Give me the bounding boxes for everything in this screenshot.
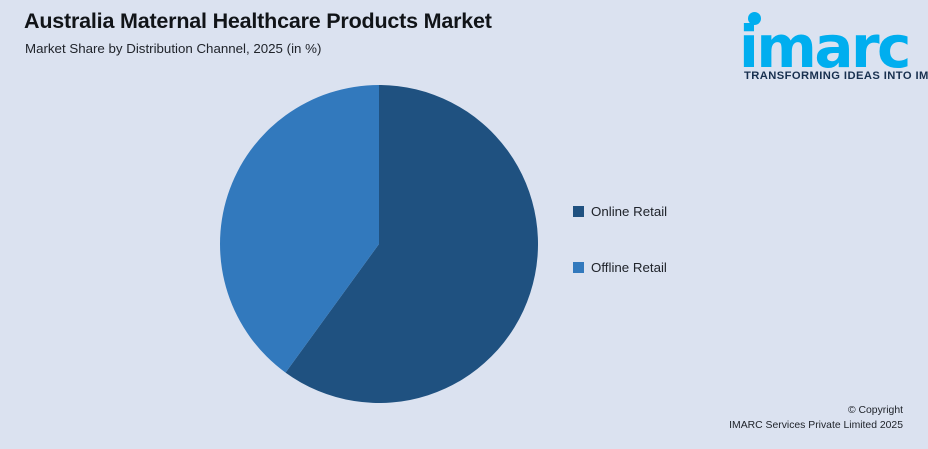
legend-item-online-retail[interactable]: Online Retail	[573, 203, 667, 219]
pie-chart-svg	[220, 85, 538, 403]
legend-swatch-online-retail	[573, 206, 584, 217]
page-title: Australia Maternal Healthcare Products M…	[24, 9, 492, 34]
pie-chart	[220, 85, 538, 403]
copyright-line-2: IMARC Services Private Limited 2025	[729, 418, 903, 433]
logo-wordmark: imarc	[739, 18, 909, 76]
legend-swatch-offline-retail	[573, 262, 584, 273]
legend-label-online-retail: Online Retail	[591, 204, 667, 219]
legend-label-offline-retail: Offline Retail	[591, 260, 667, 275]
chart-page: Australia Maternal Healthcare Products M…	[0, 0, 928, 449]
imarc-logo: imarc TRANSFORMING IDEAS INTO IMPACT	[735, 6, 925, 88]
copyright-line-1: © Copyright	[729, 403, 903, 418]
chart-legend: Online Retail Offline Retail	[573, 203, 667, 315]
legend-item-offline-retail[interactable]: Offline Retail	[573, 259, 667, 275]
copyright-block: © Copyright IMARC Services Private Limit…	[729, 403, 903, 433]
page-subtitle: Market Share by Distribution Channel, 20…	[25, 41, 321, 56]
logo-tagline: TRANSFORMING IDEAS INTO IMPACT	[744, 70, 928, 82]
